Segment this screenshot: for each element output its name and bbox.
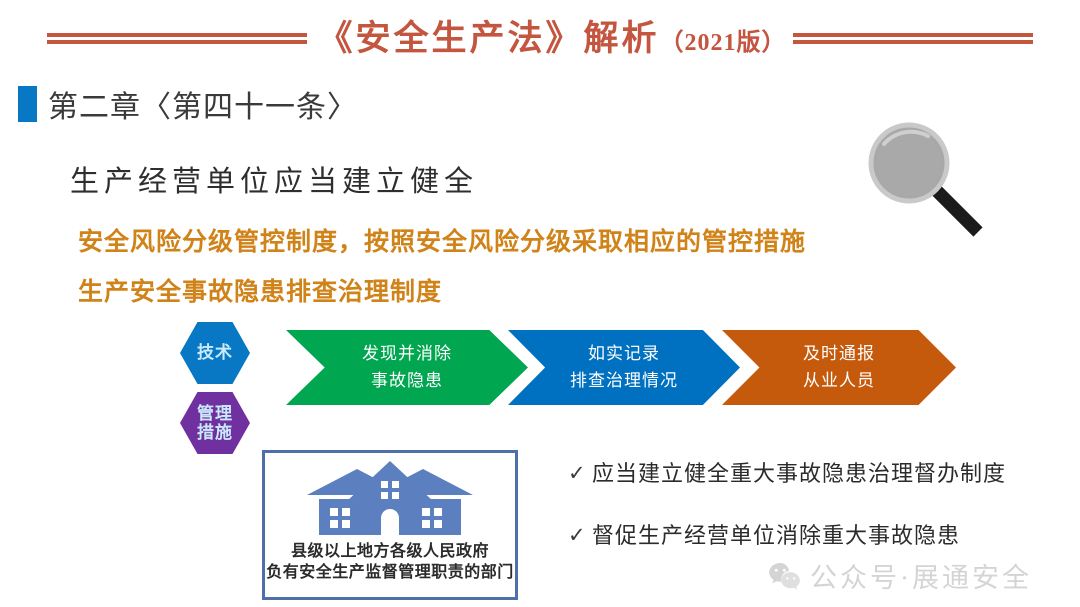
check-icon: ✓ (568, 460, 592, 486)
check-icon: ✓ (568, 522, 592, 548)
chapter-accent-bar (18, 86, 37, 122)
chapter-heading: 第二章〈第四十一条〉 (18, 82, 358, 126)
building-caption-line-2: 负有安全生产监督管理职责的部门 (266, 562, 514, 583)
hexagon-management: 管理 措施 (180, 392, 250, 454)
hexagon-management-label-1: 管理 (197, 404, 233, 423)
flow-step-2-line-2: 排查治理情况 (570, 369, 678, 394)
checklist-item: ✓ 应当建立健全重大事故隐患治理督办制度 (568, 460, 1038, 488)
magnifying-glass-icon (866, 120, 996, 240)
government-building-icon (299, 461, 481, 535)
flow-step-3-line-2: 从业人员 (803, 369, 875, 394)
wechat-icon (768, 561, 802, 591)
flow-step-1-line-1: 发现并消除 (362, 342, 452, 367)
lead-paragraph: 生产经营单位应当建立健全 (70, 158, 478, 200)
page-title-main: 《安全生产法》解析 (317, 19, 659, 58)
checklist-item-label: 督促生产经营单位消除重大事故隐患 (592, 522, 960, 550)
chapter-heading-label: 第二章〈第四十一条〉 (48, 82, 358, 126)
highlight-line-2: 生产安全事故隐患排查治理制度 (78, 272, 442, 308)
government-building-caption: 县级以上地方各级人民政府 负有安全生产监督管理职责的部门 (266, 541, 514, 583)
slide-canvas: 《安全生产法》解析（2021版） 第二章〈第四十一条〉 生产经营单位应当建立健全… (0, 0, 1080, 607)
flow-step-1: 发现并消除 事故隐患 (286, 330, 528, 405)
building-caption-line-1: 县级以上地方各级人民政府 (266, 541, 514, 562)
hexagon-technology: 技术 (180, 322, 250, 384)
hexagon-management-label-2: 措施 (197, 423, 233, 442)
page-title-version: （2021版） (660, 30, 787, 56)
flow-step-2-line-1: 如实记录 (588, 342, 660, 367)
flow-step-1-line-2: 事故隐患 (371, 369, 443, 394)
checklist-item: ✓ 督促生产经营单位消除重大事故隐患 (568, 522, 1038, 550)
title-rule-right (793, 32, 1033, 45)
page-title: 《安全生产法》解析（2021版） (317, 21, 786, 56)
flow-step-3: 及时通报 从业人员 (722, 330, 956, 405)
title-rule-left (47, 32, 307, 45)
highlight-line-1: 安全风险分级管控制度，按照安全风险分级采取相应的管控措施 (78, 222, 806, 258)
government-building-card: 县级以上地方各级人民政府 负有安全生产监督管理职责的部门 (262, 450, 518, 600)
hexagon-technology-label: 技术 (197, 343, 233, 362)
title-row: 《安全生产法》解析（2021版） (0, 14, 1080, 62)
checklist-item-label: 应当建立健全重大事故隐患治理督办制度 (592, 460, 1006, 488)
flow-step-2: 如实记录 排查治理情况 (508, 330, 740, 405)
flow-step-3-line-1: 及时通报 (803, 342, 875, 367)
watermark: 公众号·展通安全 (768, 556, 1032, 595)
watermark-label: 公众号·展通安全 (810, 556, 1032, 595)
